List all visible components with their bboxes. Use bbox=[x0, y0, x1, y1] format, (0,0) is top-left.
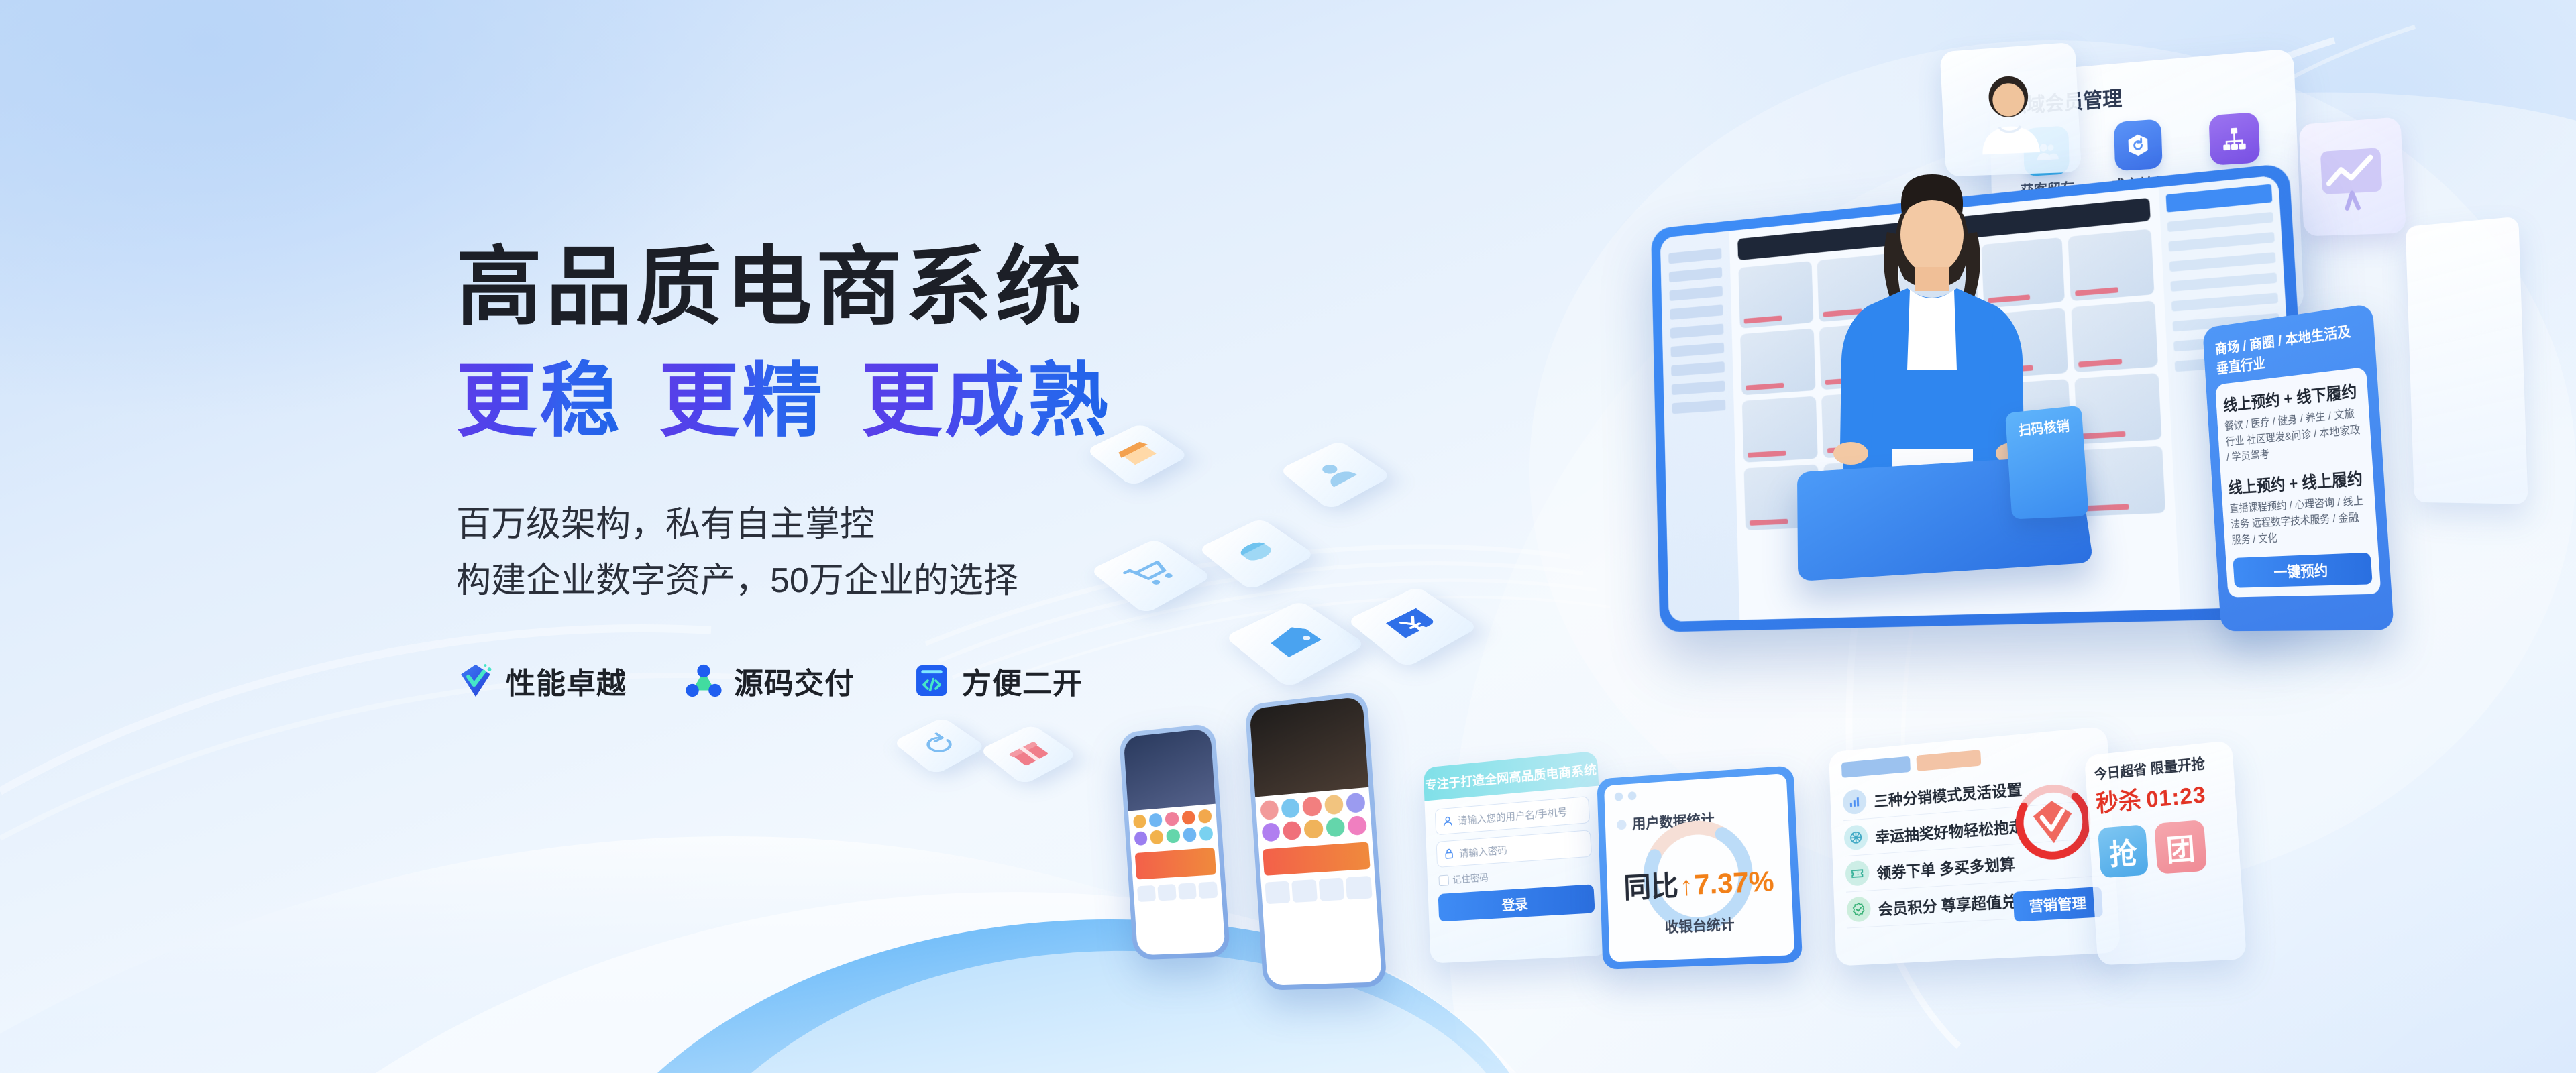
refresh-icon bbox=[913, 729, 966, 762]
vertical-section-detail: 餐饮 / 医疗 / 健身 / 养生 / 文旅行业 社区理发&问诊 / 本地家政 … bbox=[2224, 406, 2364, 467]
badge-check-icon bbox=[1846, 896, 1871, 922]
pos-device-label: 扫码核销 bbox=[2018, 415, 2070, 439]
box-refresh-icon bbox=[2114, 119, 2163, 171]
source-node-icon bbox=[684, 661, 723, 700]
vertical-section: 线上预约 + 线上履约 直播课程预约 / 心理咨询 / 线上法务 远程数字技术服… bbox=[2228, 465, 2370, 549]
remember-checkbox[interactable] bbox=[1438, 875, 1449, 887]
badge-label: 源码交付 bbox=[734, 659, 855, 702]
subhead-word-3: 更成熟 bbox=[861, 357, 1111, 445]
up-arrow-icon: ↑ bbox=[1679, 871, 1693, 902]
diamond-check-icon bbox=[456, 661, 495, 700]
flash-sale-card: 今日超省 限量开抢 秒杀 01:23 抢 团 bbox=[2084, 740, 2247, 965]
seckill-label: 秒杀 bbox=[2095, 781, 2143, 819]
password-placeholder: 请输入密码 bbox=[1459, 842, 1507, 860]
user-icon bbox=[1442, 815, 1453, 828]
marketing-row-text: 三种分销模式灵活设置 bbox=[1874, 777, 2023, 811]
coupon-icon bbox=[1845, 860, 1870, 886]
badge-label: 性能卓越 bbox=[506, 659, 627, 702]
bar-chart-icon bbox=[1842, 789, 1866, 815]
grab-tile[interactable]: 抢 bbox=[2098, 824, 2149, 878]
marketing-manage-button[interactable]: 营销管理 bbox=[2013, 887, 2104, 922]
stats-metric-label: 同比 bbox=[1623, 864, 1679, 907]
wheel-icon bbox=[1843, 824, 1868, 850]
trend-chart-icon bbox=[2314, 135, 2390, 219]
chart-mini-card bbox=[2298, 117, 2406, 236]
login-card: 专注于打造全网高品质电商系统 请输入您的用户名/手机号 请输入密码 记住密 bbox=[1424, 751, 1609, 964]
remember-password-row[interactable]: 记住密码 bbox=[1438, 864, 1593, 887]
coin-icon bbox=[1223, 532, 1289, 573]
subhead-word-1: 更稳 bbox=[456, 357, 623, 445]
floating-tile-person bbox=[1279, 441, 1392, 511]
vertical-section-title: 线上预约 + 线上履约 bbox=[2228, 465, 2367, 498]
vertical-industry-panel: 商场 / 商圈 / 本地生活及垂直行业 线上预约 + 线下履约 餐饮 / 医疗 … bbox=[2202, 303, 2394, 631]
monitor-sidebar bbox=[1660, 231, 1739, 621]
password-field[interactable]: 请输入密码 bbox=[1436, 830, 1592, 868]
floating-tile-refresh bbox=[892, 717, 987, 775]
badge-label: 方便二开 bbox=[962, 659, 1083, 702]
vertical-section: 线上预约 + 线下履约 餐饮 / 医疗 / 健身 / 养生 / 文旅行业 社区理… bbox=[2222, 378, 2364, 467]
floating-tile-gift bbox=[979, 724, 1078, 785]
code-brackets-icon bbox=[912, 661, 951, 700]
login-button[interactable]: 登录 bbox=[1438, 884, 1595, 921]
cart-icon bbox=[1116, 553, 1185, 596]
promo-banner: 高品质电商系统 更稳 更精 更成熟 百万级架构，私有自主掌控 构建企业数字资产，… bbox=[0, 0, 2576, 1073]
yuan-pay-icon bbox=[1375, 602, 1449, 648]
window-dots bbox=[1615, 791, 1637, 801]
marketing-row-text: 幸运抽奖好物轻松抱走 bbox=[1875, 813, 2025, 847]
remember-label: 记住密码 bbox=[1452, 871, 1489, 887]
username-placeholder: 请输入您的用户名/手机号 bbox=[1458, 804, 1568, 827]
badge-secondary-dev[interactable]: 方便二开 bbox=[912, 659, 1083, 702]
preview-card bbox=[2406, 217, 2528, 504]
badge-source-delivery[interactable]: 源码交付 bbox=[684, 659, 855, 702]
username-field[interactable]: 请输入您的用户名/手机号 bbox=[1435, 796, 1590, 835]
one-click-book-button[interactable]: 一键预约 bbox=[2233, 553, 2372, 588]
subhead-word-2: 更精 bbox=[659, 357, 825, 445]
marketing-row-text: 会员积分 尊享超值兑换 bbox=[1878, 887, 2033, 919]
lock-icon bbox=[1443, 848, 1455, 860]
badge-performance[interactable]: 性能卓越 bbox=[456, 659, 627, 702]
floating-tile-coin bbox=[1197, 518, 1316, 591]
stats-metric-value: 7.37% bbox=[1694, 865, 1775, 901]
floating-tile-wallet bbox=[1224, 600, 1366, 688]
marketing-row-text: 领券下单 多买多划算 bbox=[1876, 851, 2016, 883]
person-icon bbox=[1303, 454, 1367, 493]
stats-subtitle: 收银台统计 bbox=[1664, 913, 1735, 937]
group-buy-tile[interactable]: 团 bbox=[2154, 820, 2207, 874]
illustration: 私域会员管理 获客留存 成交转化 bbox=[1127, 0, 2576, 1073]
vertical-section-detail: 直播课程预约 / 心理咨询 / 线上法务 远程数字技术服务 / 金融服务 / 文… bbox=[2229, 493, 2370, 549]
countdown-timer: 01:23 bbox=[2145, 782, 2207, 813]
marketing-card: 三种分销模式灵活设置 幸运抽奖好物轻松抱走 领券下单 多买多划算 会员积分 尊享… bbox=[1829, 726, 2121, 966]
phone-mockup-1 bbox=[1119, 723, 1231, 960]
sitemap-icon bbox=[2208, 112, 2260, 166]
gift-icon bbox=[1000, 736, 1056, 771]
status-dot bbox=[1617, 820, 1627, 830]
stats-card: 用户数据统计 同比 ↑ 7.37% 收银台统计 bbox=[1597, 765, 1803, 970]
qr-scan-device[interactable]: 扫码核销 bbox=[2005, 405, 2089, 519]
wallet-icon bbox=[1255, 617, 1334, 666]
store-icon bbox=[1108, 435, 1167, 471]
floating-tile-yuan-pay bbox=[1346, 586, 1479, 668]
phone-mockup-2 bbox=[1244, 691, 1387, 991]
